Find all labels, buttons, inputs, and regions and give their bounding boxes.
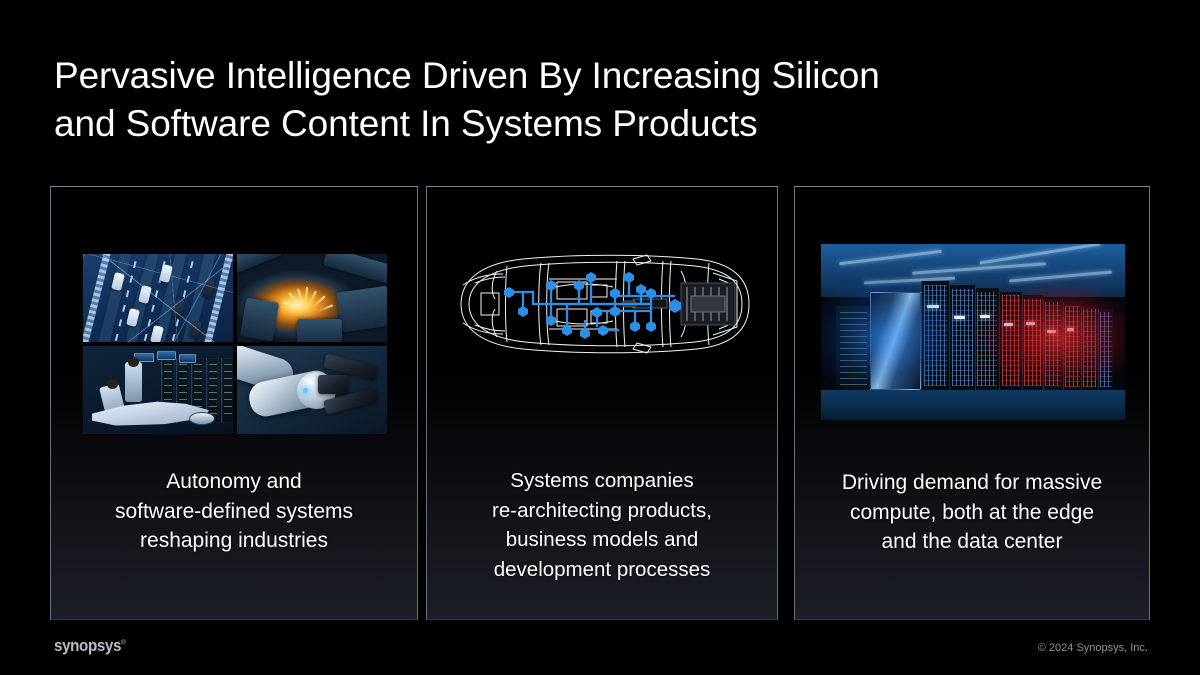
highway-autonomous-vehicles-image <box>83 254 233 342</box>
autonomy-panel[interactable]: Autonomy and software-defined systems re… <box>50 186 418 620</box>
data-center-server-racks-image <box>821 244 1125 420</box>
industrial-welding-robots-image <box>237 254 387 342</box>
copyright-notice: © 2024 Synopsys, Inc. <box>1038 642 1148 654</box>
synopsys-logo[interactable]: synopsys® <box>54 637 125 656</box>
aerospace-lab-engineers-image <box>83 346 233 434</box>
autonomy-panel-caption: Autonomy and software-defined systems re… <box>57 467 411 556</box>
car-sensor-architecture-diagram <box>445 249 761 359</box>
photo-grid-2x2 <box>83 254 387 434</box>
systems-companies-panel[interactable]: Systems companies re-architecting produc… <box>426 186 778 620</box>
slide-title: Pervasive Intelligence Driven By Increas… <box>54 52 1054 148</box>
data-center-panel-caption: Driving demand for massive compute, both… <box>801 468 1143 557</box>
data-center-panel[interactable]: Driving demand for massive compute, both… <box>794 186 1150 620</box>
systems-companies-panel-caption: Systems companies re-architecting produc… <box>433 466 771 584</box>
synopsys-logo-text: synopsys <box>54 637 121 655</box>
panel-container: Autonomy and software-defined systems re… <box>50 186 1150 620</box>
robotic-arm-gripper-image <box>237 346 387 434</box>
slide-root: Pervasive Intelligence Driven By Increas… <box>0 0 1200 675</box>
registered-mark-icon: ® <box>121 640 125 647</box>
